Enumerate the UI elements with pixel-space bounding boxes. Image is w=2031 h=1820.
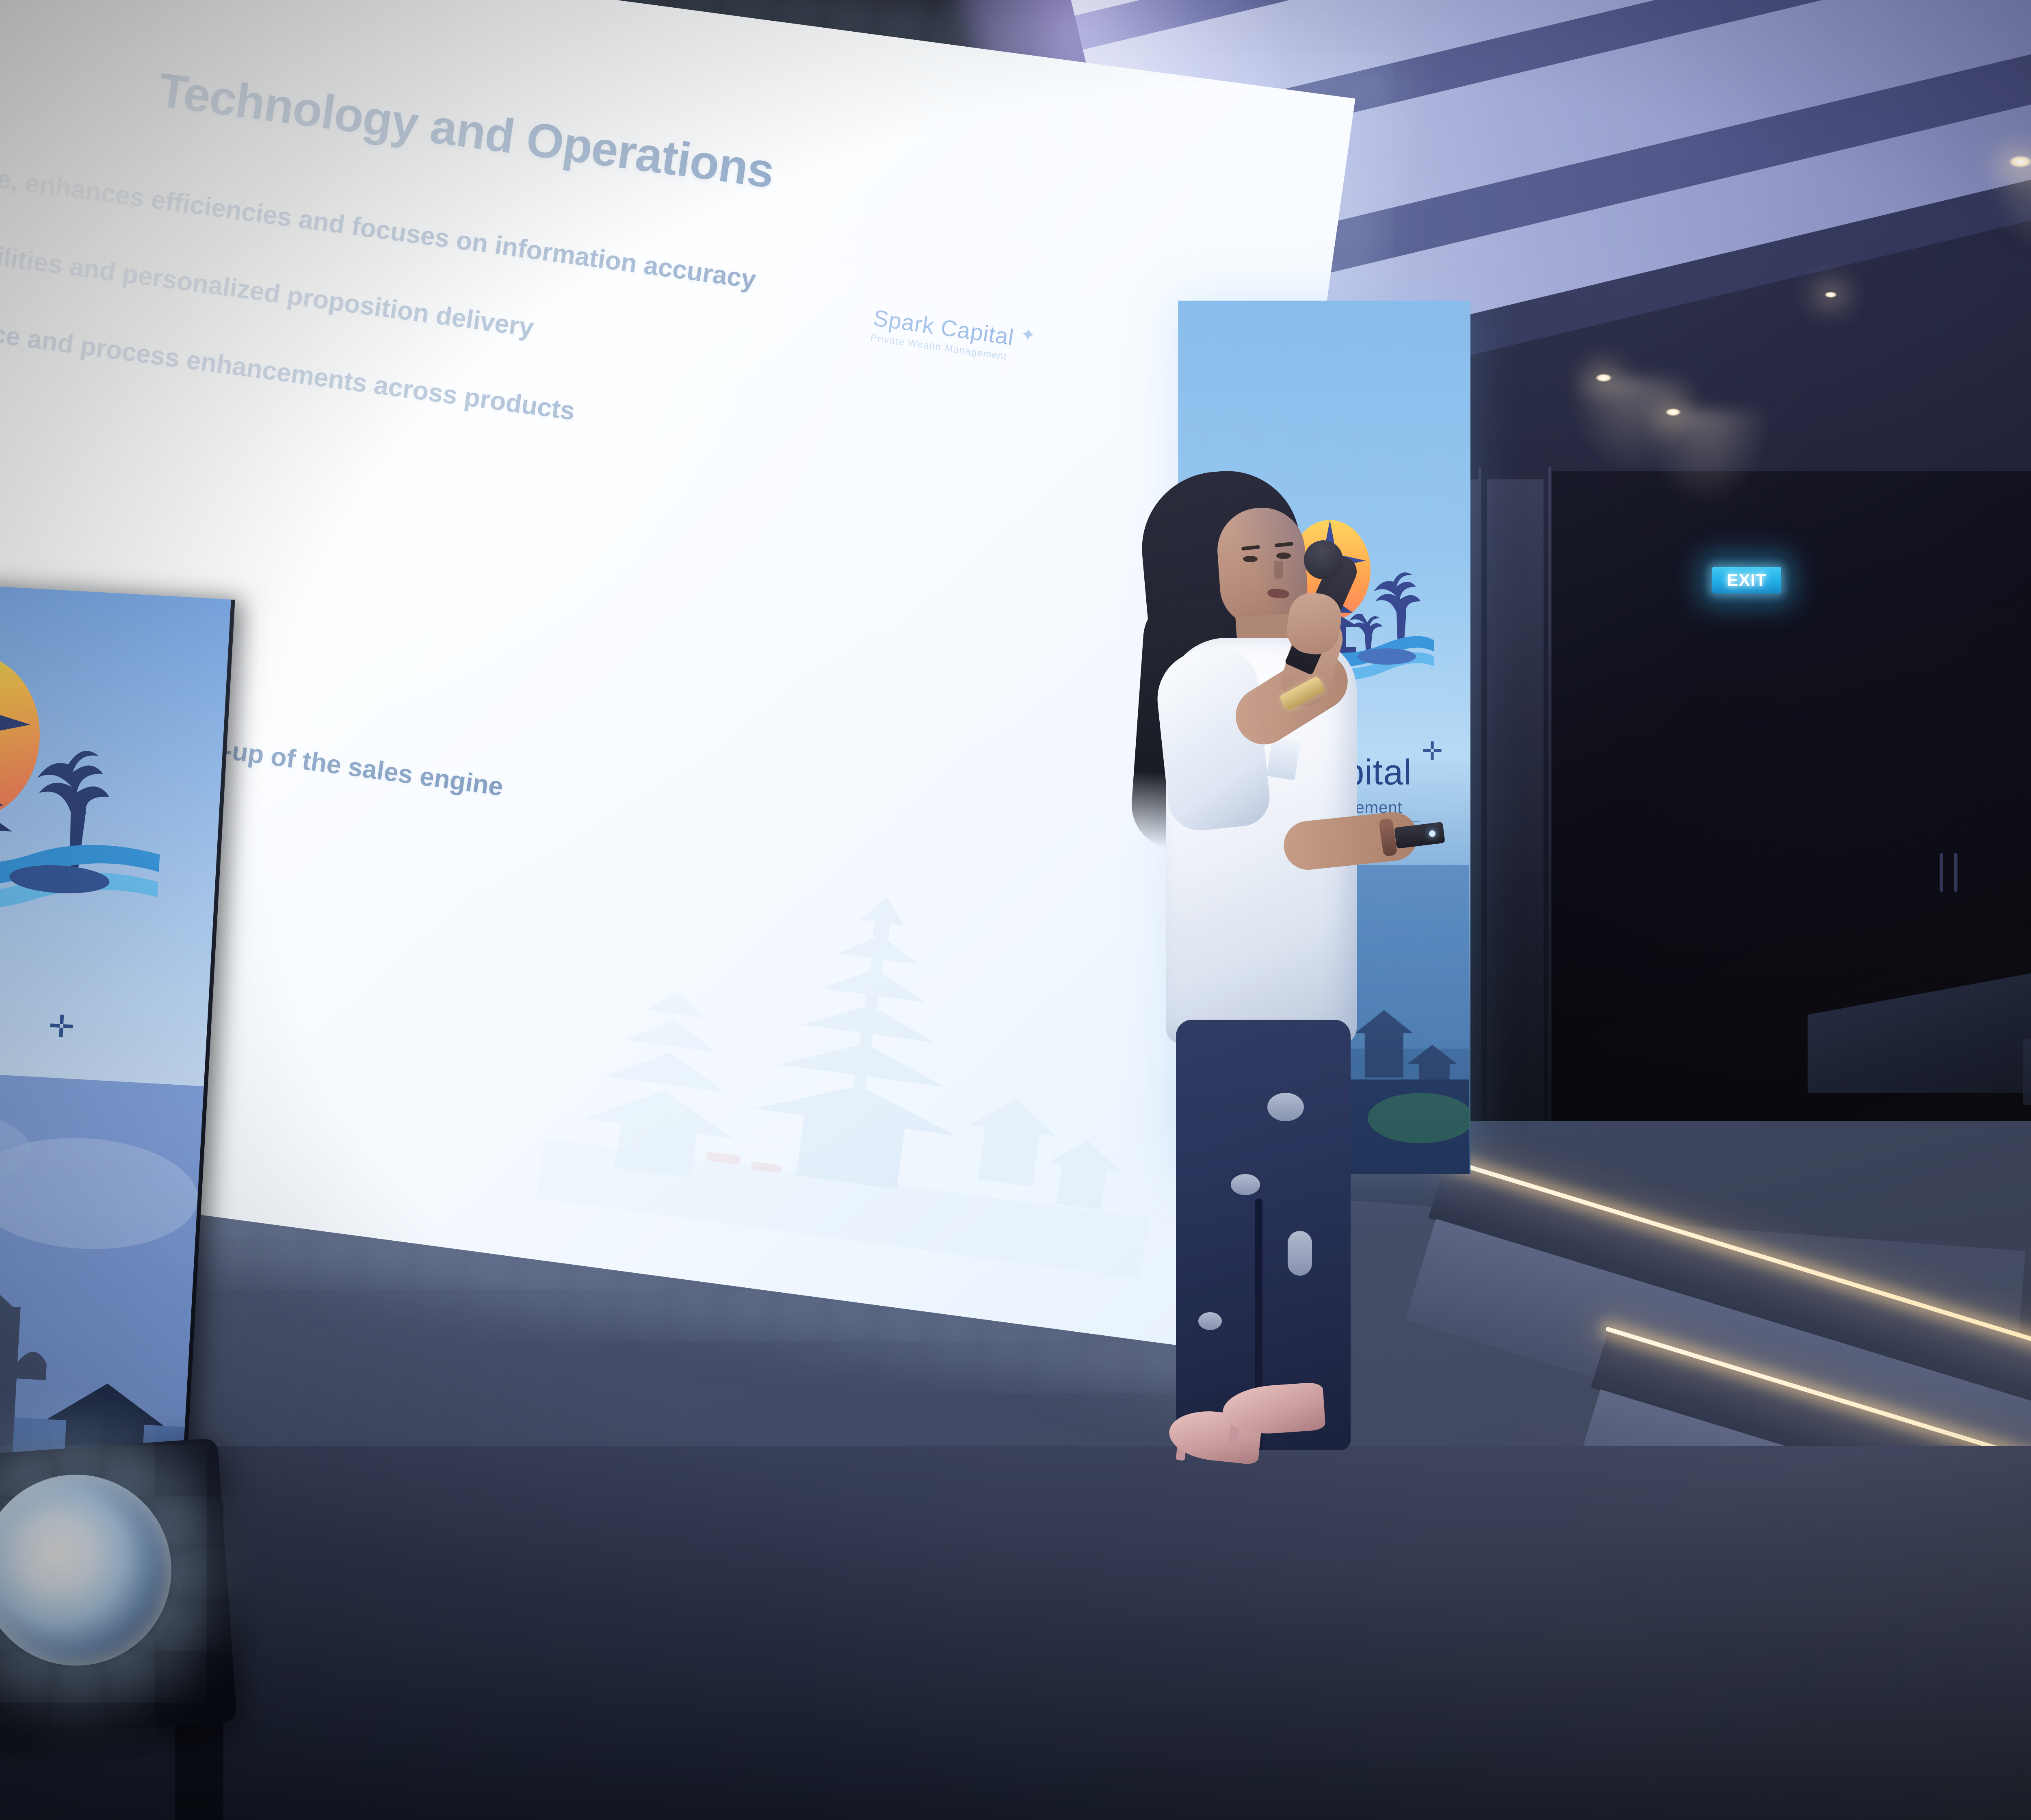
jeans-distress-patch (1267, 1093, 1304, 1121)
jeans-distress-patch (1231, 1174, 1260, 1195)
sparkle-icon: ✛ (1422, 736, 1443, 766)
slide-title: Technology and Operations (155, 62, 777, 199)
exit-sign-label: EXIT (1727, 570, 1766, 590)
presenter (1097, 459, 1405, 1434)
door-handle[interactable] (1954, 853, 1957, 892)
presenter-nose (1274, 561, 1283, 579)
bali-temple-watermark (536, 836, 1191, 1279)
presenter-jeans (1176, 1020, 1351, 1450)
jeans-distress-patch (1198, 1312, 1222, 1330)
clicker-indicator-light (1429, 830, 1436, 837)
jeans-distress-patch (1288, 1231, 1312, 1276)
sparkle-icon: ✛ (48, 1007, 76, 1045)
exit-sign: EXIT (1712, 567, 1781, 594)
door-handle[interactable] (1940, 853, 1943, 892)
ceiling-downlight (1596, 374, 1612, 382)
wall-seam (1479, 467, 1481, 1158)
presenter-name-badge (1267, 737, 1301, 780)
sparkle-icon: ✦ (1019, 324, 1037, 347)
house-floor (0, 1446, 2031, 1820)
stage-scene: EXIT LA Technology (0, 0, 2031, 1820)
presenter-eye (1276, 552, 1291, 559)
wall-column (1487, 479, 1544, 1162)
ceiling-downlight (1825, 292, 1837, 298)
slide-logo: Spark Capital Private Wealth Management … (870, 304, 1016, 363)
presenter-eye (1243, 556, 1258, 562)
wall-seam (1548, 467, 1551, 1158)
standee-brand-name: Capital (0, 1014, 207, 1083)
bali-emblem-icon (0, 635, 171, 958)
ceiling-downlight (2009, 156, 2031, 168)
ceiling-downlight (1665, 408, 1681, 416)
